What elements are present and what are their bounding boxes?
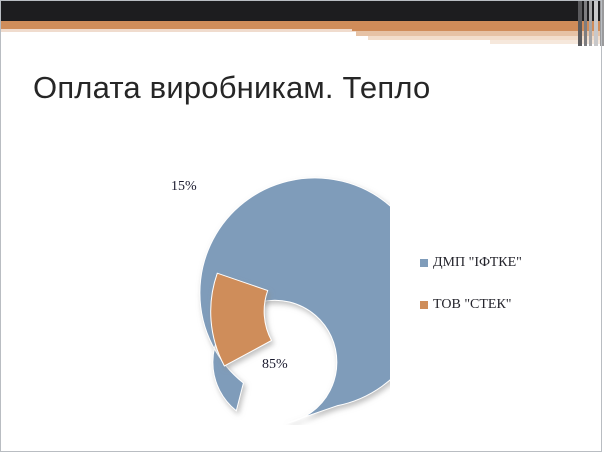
right-edge-strip-4 [594, 0, 598, 46]
doughnut-chart-svg [110, 135, 390, 425]
chart-legend: ДМП "ІФТКЕ" ТОВ "СТЕК" [420, 255, 570, 339]
slice-label-dmp-iftke: 85% [262, 357, 288, 373]
right-edge-strip-3 [589, 0, 592, 46]
decorative-bar-1 [352, 22, 600, 31]
page-title: Оплата виробникам. Тепло [33, 68, 430, 108]
slice-label-tov-stek: 15% [171, 179, 197, 195]
slide-canvas: Оплата виробникам. Тепло 15% 85% ДМП "ІФ… [0, 0, 604, 454]
legend-label: ТОВ "СТЕК" [433, 297, 512, 313]
top-black-bar [0, 0, 604, 21]
right-edge-strip-1 [578, 0, 582, 46]
legend-item-tov-stek[interactable]: ТОВ "СТЕК" [420, 297, 570, 313]
legend-swatch-icon [420, 259, 428, 267]
right-edge-strip-5 [600, 0, 604, 46]
legend-swatch-icon [420, 301, 428, 309]
doughnut-chart: 15% 85% [110, 135, 390, 425]
right-edge-strip-2 [584, 0, 587, 46]
legend-label: ДМП "ІФТКЕ" [433, 255, 522, 271]
legend-item-dmp-iftke[interactable]: ДМП "ІФТКЕ" [420, 255, 570, 271]
